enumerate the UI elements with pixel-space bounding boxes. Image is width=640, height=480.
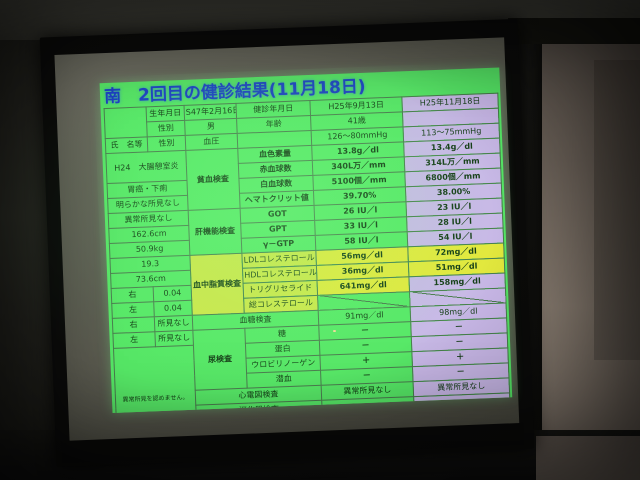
projected-slide: 南 2回目の健診結果(11月18日) 生年月日 S47年2月16日 健診年月日 … <box>100 68 513 413</box>
cell-eye-right-value: 0.04 <box>153 285 192 301</box>
cell-birthdate-label: 生年月日 <box>146 105 185 121</box>
cell-category-lipid: 血中脂質検査 <box>190 253 244 315</box>
cell-sex-label-2: 性別 <box>147 135 186 151</box>
cell-ear-left-label: 左 <box>113 332 156 349</box>
door-frame-header <box>508 18 640 44</box>
wall-shadow <box>594 60 640 360</box>
cell-sex-label: 性別 <box>147 120 186 136</box>
cell-eye-left-value: 0.04 <box>154 300 193 316</box>
laser-pointer-dot <box>333 330 336 332</box>
cell-eye-right-label: 右 <box>111 287 154 304</box>
cell-category-liver: 肝機能検査 <box>188 208 242 255</box>
cell-category-urine: 尿検査 <box>193 328 247 390</box>
cell-left-note: 異常所見を認めません。 <box>114 345 198 413</box>
cell-category-anemia: 貧血検査 <box>186 148 240 210</box>
photograph-of-projection-screen: 南 2回目の健診結果(11月18日) 生年月日 S47年2月16日 健診年月日 … <box>0 0 640 480</box>
projection-screen: 南 2回目の健診結果(11月18日) 生年月日 S47年2月16日 健診年月日 … <box>40 19 535 467</box>
cell-ear-left-value: 所見なし <box>155 330 194 346</box>
cell-ear-right-value: 所見なし <box>154 315 193 331</box>
cell-history-1: H24 大腸憩室炎 <box>106 150 187 183</box>
cell-eye-left-label: 左 <box>112 302 155 319</box>
cell-name-label: 氏 名等 <box>105 137 148 154</box>
floor-right <box>536 436 640 480</box>
health-checkup-table: 生年月日 S47年2月16日 健診年月日 H25年9月13日 H25年11月18… <box>104 93 513 413</box>
cell-ear-right-label: 右 <box>112 317 155 334</box>
